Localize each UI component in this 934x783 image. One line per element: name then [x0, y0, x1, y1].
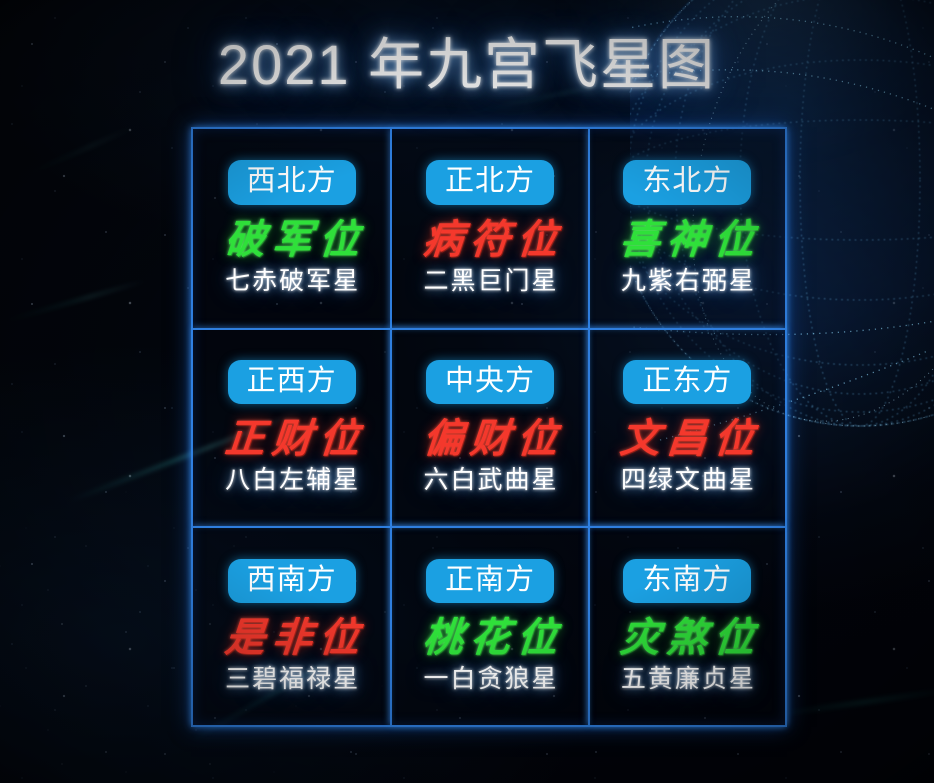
grid-cell-3[interactable]: 东北方喜神位九紫右弼星 [588, 129, 785, 328]
flying-star-name: 六白武曲星 [421, 466, 558, 496]
position-name: 灾煞位 [611, 617, 763, 659]
position-name: 偏财位 [414, 418, 566, 460]
flying-star-name: 七赤破军星 [223, 267, 360, 297]
poster-canvas: 2021 年九宫飞星图 西北方破军位七赤破军星正北方病符位二黑巨门星东北方喜神位… [0, 0, 934, 783]
light-streak-decoration [771, 687, 934, 717]
position-name: 破军位 [216, 219, 368, 261]
direction-badge: 西南方 [228, 559, 356, 603]
flying-star-name: 五黄廉贞星 [619, 665, 756, 695]
direction-badge: 正北方 [426, 160, 554, 204]
flying-star-name: 四绿文曲星 [619, 466, 756, 496]
direction-badge: 正东方 [623, 360, 751, 404]
light-streak-decoration [3, 279, 148, 322]
position-name: 是非位 [216, 617, 368, 659]
flying-star-name: 八白左辅星 [223, 466, 360, 496]
grid-cell-7[interactable]: 西南方是非位三碧福禄星 [193, 526, 390, 725]
flying-star-name: 三碧福禄星 [223, 665, 360, 695]
grid-cell-2[interactable]: 正北方病符位二黑巨门星 [390, 129, 587, 328]
grid-cell-1[interactable]: 西北方破军位七赤破军星 [193, 129, 390, 328]
position-name: 文昌位 [611, 418, 763, 460]
grid-cell-5[interactable]: 中央方偏财位六白武曲星 [390, 328, 587, 527]
grid-cell-8[interactable]: 正南方桃花位一白贪狼星 [390, 526, 587, 725]
grid-cell-4[interactable]: 正西方正财位八白左辅星 [193, 328, 390, 527]
grid-cell-9[interactable]: 东南方灾煞位五黄廉贞星 [588, 526, 785, 725]
position-name: 桃花位 [414, 617, 566, 659]
direction-badge: 西北方 [228, 160, 356, 204]
position-name: 病符位 [414, 219, 566, 261]
grid-cell-6[interactable]: 正东方文昌位四绿文曲星 [588, 328, 785, 527]
page-title: 2021 年九宫飞星图 [0, 35, 934, 95]
position-name: 喜神位 [611, 219, 763, 261]
direction-badge: 正西方 [228, 360, 356, 404]
flying-star-name: 一白贪狼星 [421, 665, 558, 695]
light-streak-decoration [25, 126, 135, 177]
direction-badge: 东北方 [623, 160, 751, 204]
direction-badge: 中央方 [426, 360, 554, 404]
nine-palace-grid: 西北方破军位七赤破军星正北方病符位二黑巨门星东北方喜神位九紫右弼星正西方正财位八… [191, 127, 787, 727]
direction-badge: 正南方 [426, 559, 554, 603]
flying-star-name: 二黑巨门星 [421, 267, 558, 297]
position-name: 正财位 [216, 418, 368, 460]
direction-badge: 东南方 [623, 559, 751, 603]
flying-star-name: 九紫右弼星 [619, 267, 756, 297]
